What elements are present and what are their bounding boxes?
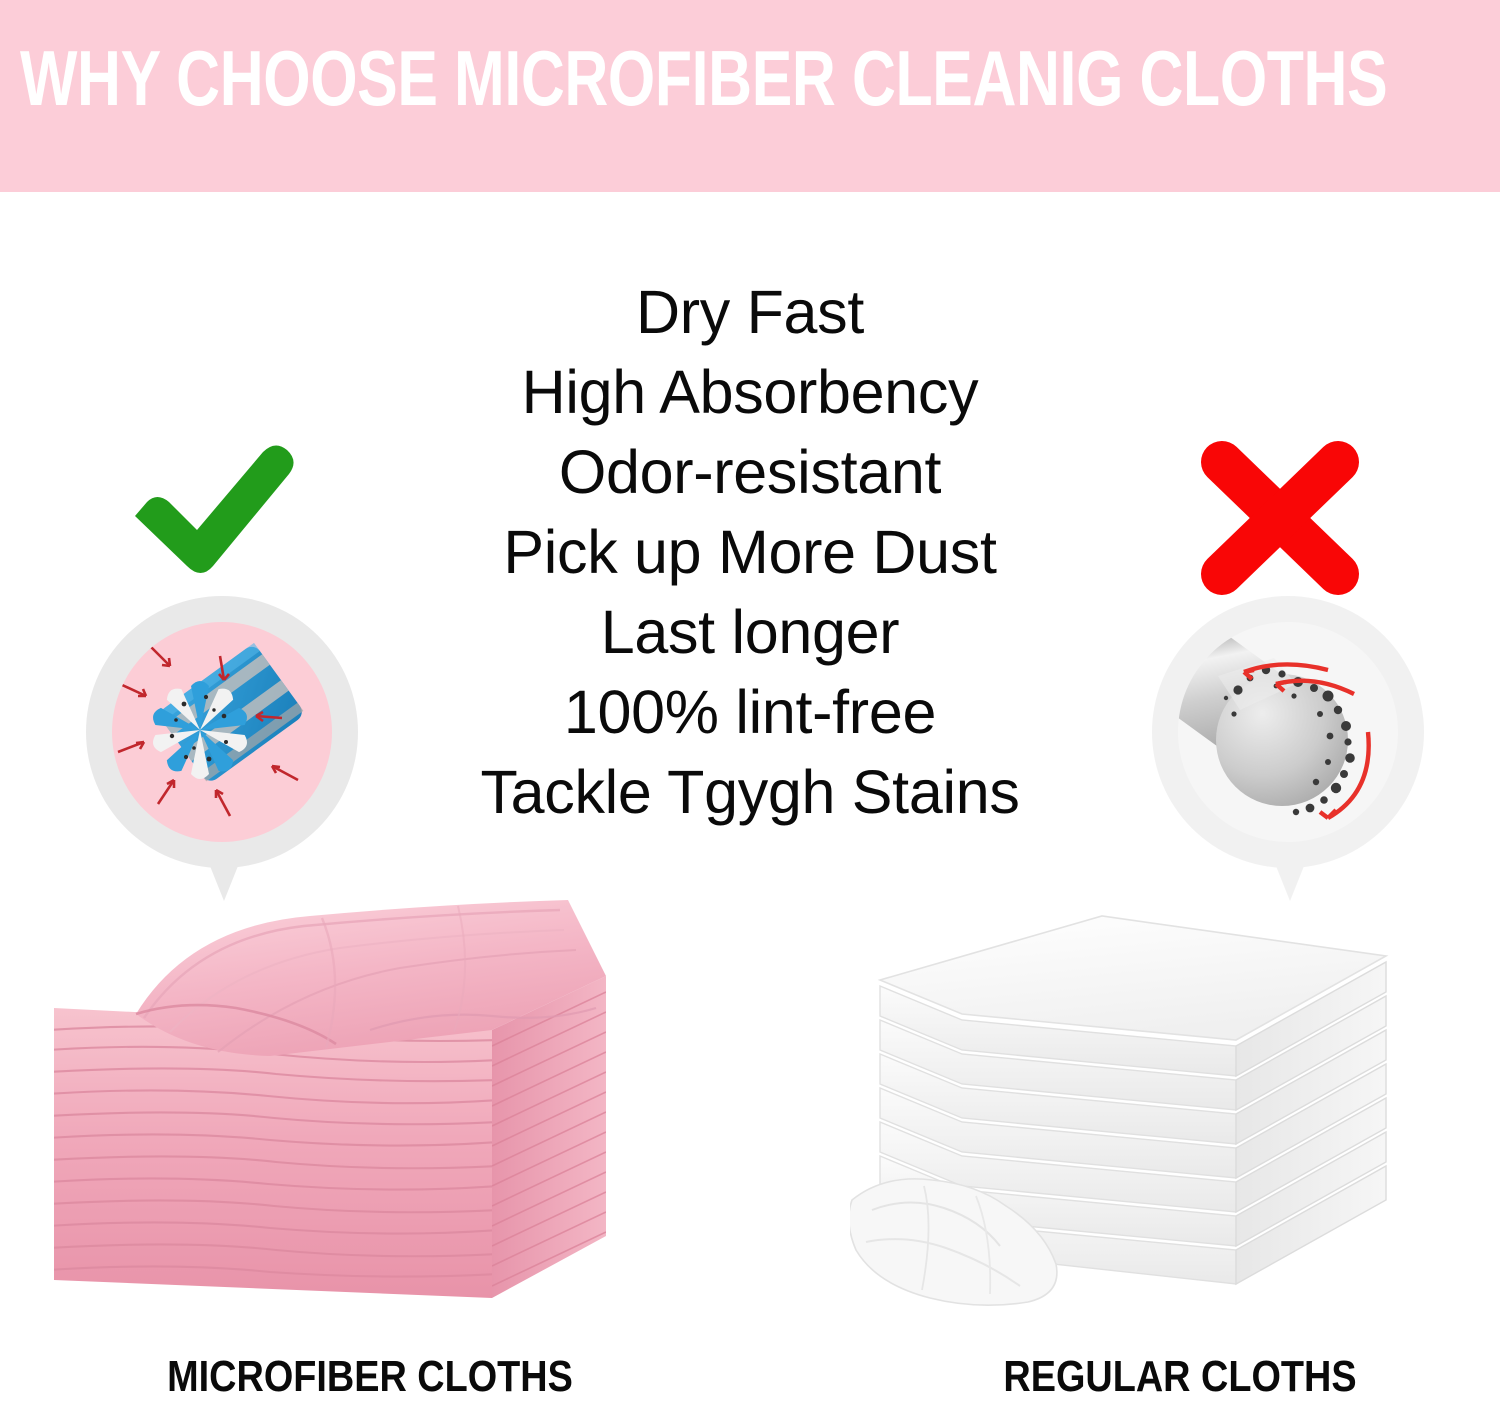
microfiber-speech-bubble bbox=[86, 596, 358, 868]
regular-fiber-speech-bubble bbox=[1152, 596, 1424, 868]
header-banner: WHY CHOOSE MICROFIBER CLEANIG CLOTHS bbox=[0, 0, 1500, 192]
white-regular-cloth-stack bbox=[850, 890, 1450, 1310]
feature-item: 100% lint-free bbox=[380, 672, 1120, 752]
regular-fiber-cross-section-diagram bbox=[1178, 622, 1398, 842]
bubble-inner bbox=[1178, 622, 1398, 842]
green-check-icon bbox=[117, 438, 317, 598]
microfiber-cross-section-diagram bbox=[112, 622, 332, 842]
feature-item: Pick up More Dust bbox=[380, 512, 1120, 592]
bubble-inner bbox=[112, 622, 332, 842]
feature-item: Last longer bbox=[380, 592, 1120, 672]
feature-item: High Absorbency bbox=[380, 352, 1120, 432]
microfiber-label: MICROFIBER CLOTHS bbox=[103, 1352, 636, 1402]
feature-item: Odor-resistant bbox=[380, 432, 1120, 512]
page-title: WHY CHOOSE MICROFIBER CLEANIG CLOTHS bbox=[20, 36, 1159, 120]
regular-label: REGULAR CLOTHS bbox=[913, 1352, 1446, 1402]
feature-item: Dry Fast bbox=[380, 272, 1120, 352]
feature-list: Dry Fast High Absorbency Odor-resistant … bbox=[380, 272, 1120, 832]
feature-item: Tackle Tgygh Stains bbox=[380, 752, 1120, 832]
pink-microfiber-cloth-stack bbox=[40, 880, 640, 1320]
red-cross-icon bbox=[1190, 438, 1370, 598]
